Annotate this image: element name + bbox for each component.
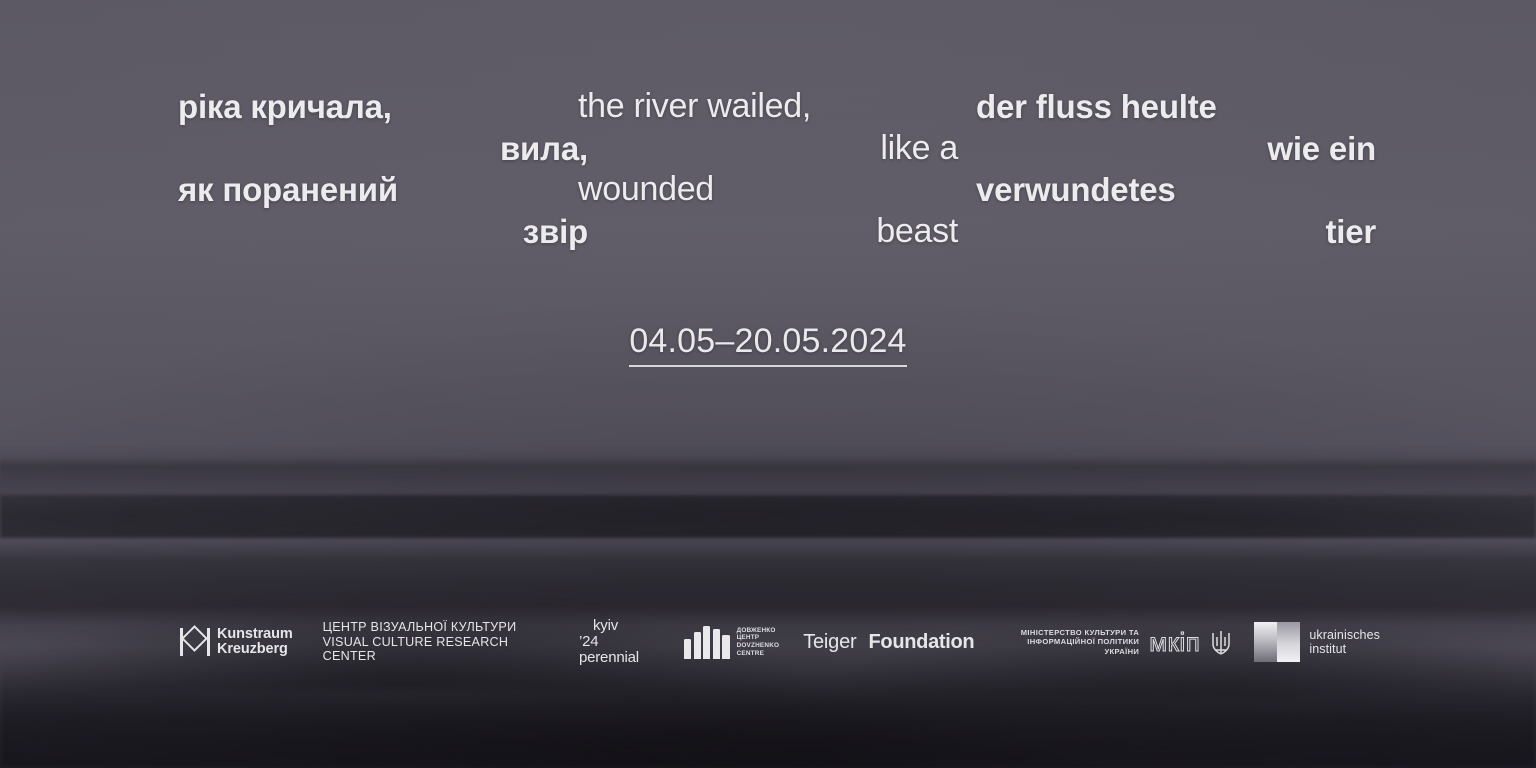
logo-line: institut bbox=[1309, 642, 1380, 656]
logo-line: ЦЕНТР ВІЗУАЛЬНОЇ КУЛЬТУРИ bbox=[323, 620, 553, 635]
logo-teiger-word: Teiger bbox=[803, 631, 856, 654]
date-row: 04.05–20.05.2024 bbox=[0, 322, 1536, 367]
headline-line: ріка кричала, bbox=[178, 86, 588, 128]
headline-line: tier bbox=[976, 211, 1376, 253]
logo-line: Kunstraum bbox=[217, 627, 293, 643]
ukraine-trident-icon bbox=[1210, 627, 1232, 657]
logo-ministry-of-culture-ukraine[interactable]: МІНІСТЕРСТВО КУЛЬТУРИ ТА ІНФОРМАЦІЙНОЇ П… bbox=[1002, 627, 1232, 657]
logo-line: ukrainisches bbox=[1309, 628, 1380, 642]
diamond-between-bars-icon bbox=[180, 627, 210, 657]
headline-line: like a bbox=[578, 128, 958, 170]
exhibition-poster: ріка кричала, вила, як поранений звір th… bbox=[0, 0, 1536, 768]
logo-kyiv-perennial-label: kyiv ’24 perennial bbox=[579, 618, 658, 666]
headline-line: звір bbox=[178, 211, 588, 253]
headline-block: ріка кричала, вила, як поранений звір th… bbox=[0, 86, 1536, 252]
logo-kyiv-perennial[interactable]: kyiv ’24 perennial bbox=[579, 618, 658, 666]
logo-line: МІНІСТЕРСТВО КУЛЬТУРИ ТА bbox=[1002, 628, 1139, 637]
logo-line: DOVZHENKO bbox=[737, 642, 780, 650]
headline-line: beast bbox=[578, 211, 958, 253]
logo-kunstraum-kreuzberg[interactable]: Kunstraum Kreuzberg bbox=[180, 627, 293, 658]
headline-column-ukrainian: ріка кричала, вила, як поранений звір bbox=[178, 86, 588, 252]
partner-logo-strip: Kunstraum Kreuzberg ЦЕНТР ВІЗУАЛЬНОЇ КУЛ… bbox=[180, 616, 1380, 668]
logo-line: CENTRE bbox=[737, 650, 780, 658]
logo-ministry-label: МІНІСТЕРСТВО КУЛЬТУРИ ТА ІНФОРМАЦІЙНОЇ П… bbox=[1002, 628, 1139, 656]
logo-line: ’24 perennial bbox=[579, 634, 658, 666]
logo-line: kyiv bbox=[593, 618, 658, 634]
logo-kunstraum-kreuzberg-label: Kunstraum Kreuzberg bbox=[217, 627, 293, 658]
logo-dovzhenko-label: ДОВЖЕНКО ЦЕНТР DOVZHENKO CENTRE bbox=[737, 627, 780, 657]
logo-line: VISUAL CULTURE RESEARCH CENTER bbox=[323, 635, 553, 664]
logo-visual-culture-research-center[interactable]: ЦЕНТР ВІЗУАЛЬНОЇ КУЛЬТУРИ VISUAL CULTURE… bbox=[323, 620, 553, 664]
logo-ukrainisches-institut-label: ukrainisches institut bbox=[1309, 628, 1380, 656]
logo-mkip-wordmark: мкіп bbox=[1149, 629, 1200, 655]
gradient-square-icon bbox=[1254, 622, 1300, 662]
film-bars-icon bbox=[684, 625, 730, 659]
headline-line: wounded bbox=[578, 169, 958, 211]
headline-column-german: der fluss heulte wie ein verwundetes tie… bbox=[976, 86, 1376, 252]
headline-line: вила, bbox=[178, 128, 588, 170]
logo-ukrainisches-institut[interactable]: ukrainisches institut bbox=[1254, 622, 1380, 662]
logo-line: ІНФОРМАЦІЙНОЇ ПОЛІТИКИ УКРАЇНИ bbox=[1002, 637, 1139, 656]
headline-line: як поранений bbox=[178, 169, 588, 211]
logo-line: Kreuzberg bbox=[217, 642, 293, 658]
headline-line: wie ein bbox=[976, 128, 1376, 170]
logo-foundation-word: Foundation bbox=[868, 631, 974, 654]
headline-line: the river wailed, bbox=[578, 86, 958, 128]
exhibition-date-range: 04.05–20.05.2024 bbox=[629, 322, 906, 367]
headline-line: der fluss heulte bbox=[976, 86, 1376, 128]
headline-column-english: the river wailed, like a wounded beast bbox=[578, 86, 958, 252]
logo-teiger-foundation[interactable]: Teiger Foundation bbox=[803, 631, 974, 654]
logo-vcrc-label: ЦЕНТР ВІЗУАЛЬНОЇ КУЛЬТУРИ VISUAL CULTURE… bbox=[323, 620, 553, 664]
logo-line: ДОВЖЕНКО bbox=[737, 627, 780, 635]
headline-line: verwundetes bbox=[976, 169, 1376, 211]
logo-dovzhenko-centre[interactable]: ДОВЖЕНКО ЦЕНТР DOVZHENKO CENTRE bbox=[684, 625, 779, 659]
logo-line: ЦЕНТР bbox=[737, 634, 780, 642]
